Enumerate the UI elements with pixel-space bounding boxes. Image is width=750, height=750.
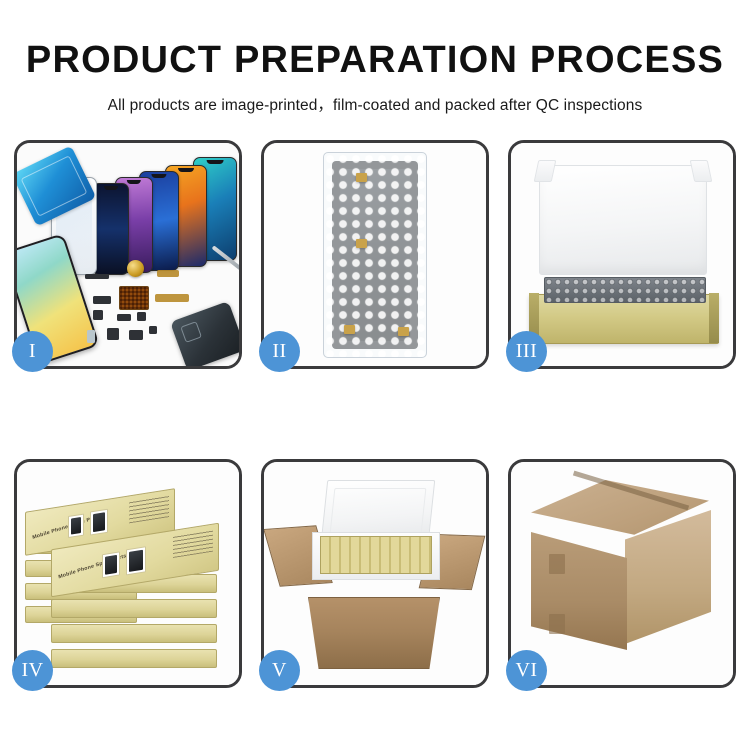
carton-front-face	[531, 532, 627, 650]
sealed-carton	[525, 480, 719, 668]
carton-tape-lower	[549, 614, 565, 634]
step-badge-6: VI	[506, 650, 547, 691]
box-spec-lines	[173, 530, 213, 558]
part-chip	[85, 274, 109, 279]
step-badge-5: V	[259, 650, 300, 691]
retail-box	[51, 649, 217, 668]
step-panel-3: III	[508, 140, 736, 369]
step-panel-2: II	[261, 140, 489, 369]
packed-yellow-boxes	[320, 536, 432, 574]
tape-tab	[398, 327, 409, 336]
step-panel-5: V	[261, 459, 489, 688]
carton-tape-upper	[549, 554, 565, 574]
step-badge-2: II	[259, 331, 300, 372]
retail-box	[51, 624, 217, 643]
step-badge-1: I	[12, 331, 53, 372]
bubble-wrap-overlay	[323, 152, 427, 358]
part-chip	[149, 326, 157, 334]
step-image-1	[17, 143, 239, 366]
step-image-2	[264, 143, 486, 366]
part-chip	[117, 314, 131, 321]
tape-tab	[344, 325, 355, 334]
box-window-left	[102, 551, 120, 578]
infographic-page: PRODUCT PREPARATION PROCESS All products…	[0, 0, 750, 750]
kraft-box-tray	[529, 294, 719, 344]
box-window-right	[126, 546, 146, 575]
part-chip	[137, 312, 146, 321]
part-chip	[107, 328, 119, 340]
part-chip	[93, 296, 111, 304]
step-image-6	[511, 462, 733, 685]
part-chip	[87, 330, 95, 343]
part-flex-cable	[157, 270, 179, 277]
part-chip	[93, 310, 103, 320]
tape-tab	[356, 173, 367, 182]
box-window-left	[68, 514, 84, 539]
step-image-4: Mobile Phone Spare Parts Mobile Phone Sp…	[17, 462, 239, 685]
page-subtitle: All products are image-printed，film-coat…	[0, 93, 750, 115]
phone-back-housing	[170, 301, 239, 366]
step-badge-4: IV	[12, 650, 53, 691]
retail-box	[51, 599, 217, 618]
step-panel-6: VI	[508, 459, 736, 688]
spare-parts-cluster	[79, 252, 239, 364]
process-grid: I II	[14, 140, 736, 688]
tray-side-right	[709, 293, 719, 343]
step-image-5	[264, 462, 486, 685]
logic-board-icon	[119, 286, 149, 310]
part-chip	[129, 330, 143, 340]
box-spec-lines	[129, 495, 169, 523]
box-window-right	[90, 509, 108, 536]
white-foam-lid	[539, 165, 707, 275]
step-badge-3: III	[506, 331, 547, 372]
bubble-wrapped-contents	[544, 277, 706, 303]
header: PRODUCT PREPARATION PROCESS All products…	[0, 0, 750, 115]
retail-box-stack: Mobile Phone Spare Parts Mobile Phone Sp…	[23, 482, 229, 672]
speaker-coil-icon	[127, 260, 144, 277]
part-flex-cable	[155, 294, 189, 302]
step-panel-1: I	[14, 140, 242, 369]
step-panel-4: Mobile Phone Spare Parts Mobile Phone Sp…	[14, 459, 242, 688]
tape-tab	[356, 239, 367, 248]
step-image-3	[511, 143, 733, 366]
page-title: PRODUCT PREPARATION PROCESS	[0, 40, 750, 82]
carton-body	[308, 597, 440, 669]
